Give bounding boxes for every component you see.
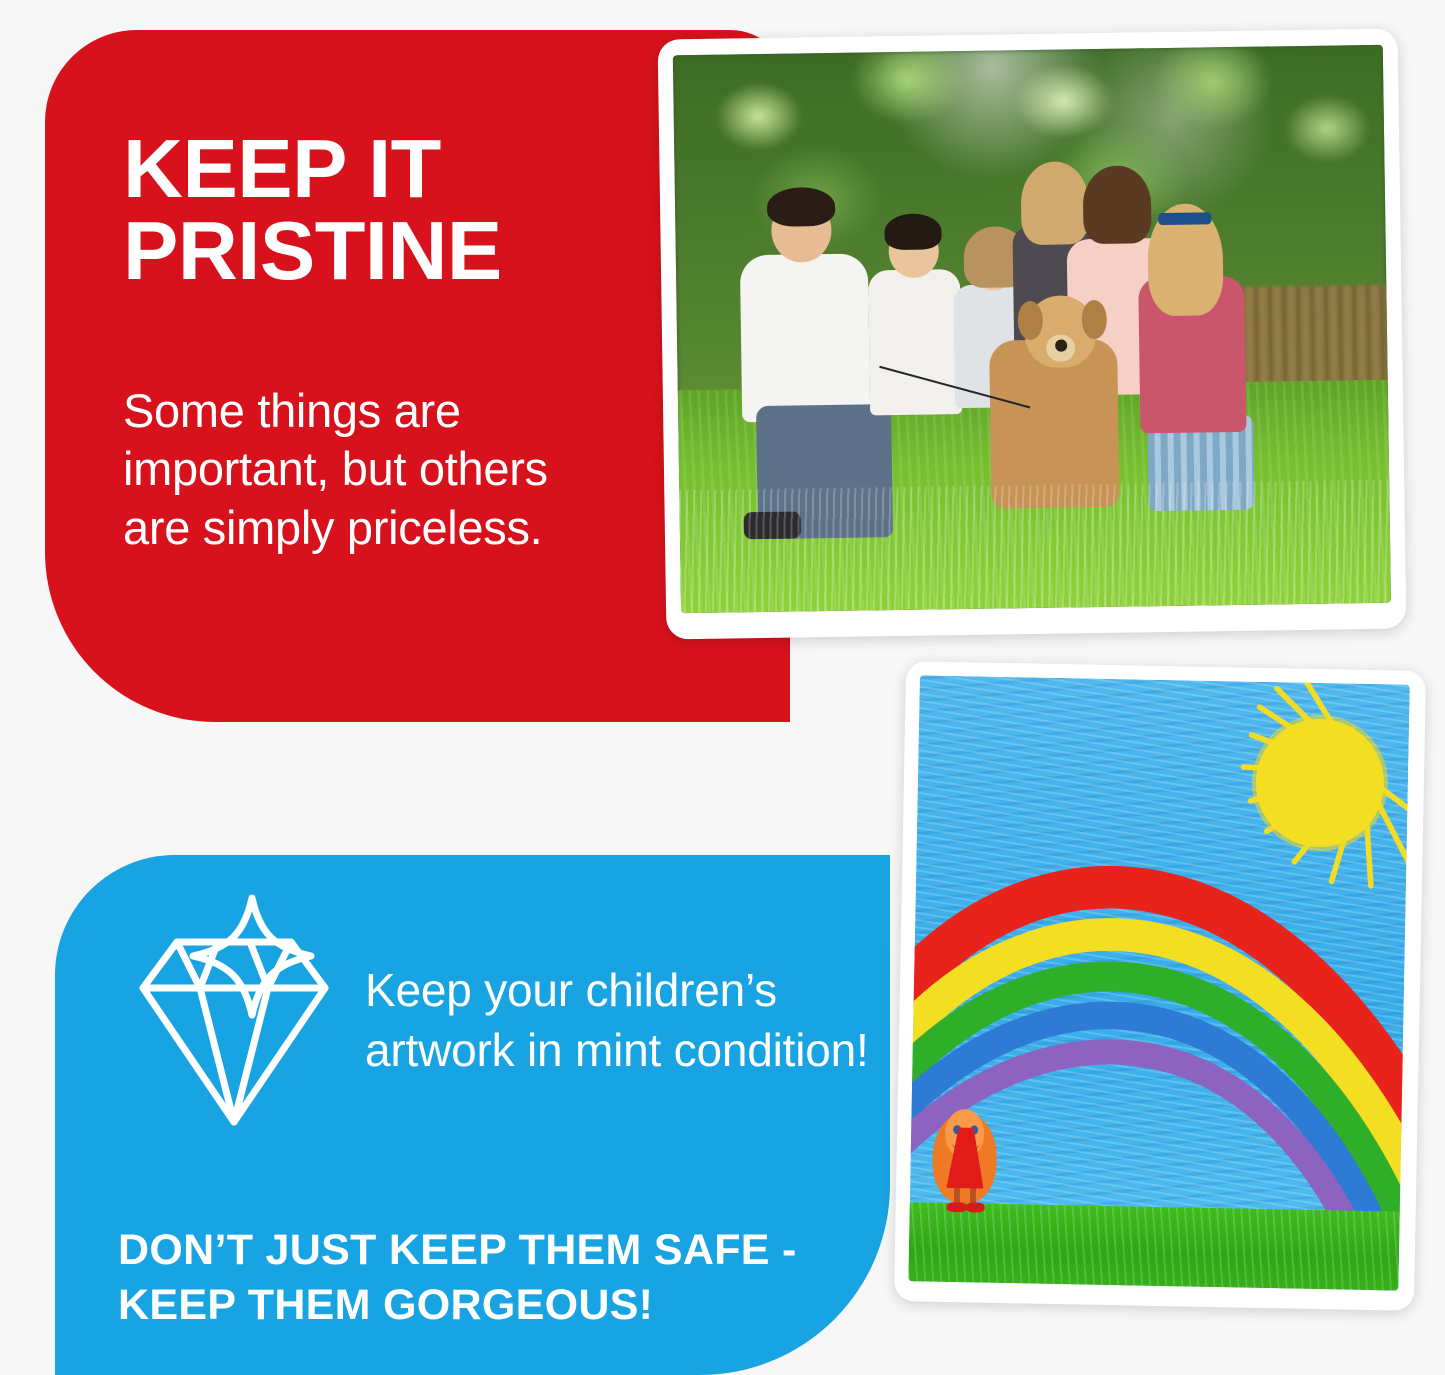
blue-message-panel: Keep your children’s artwork in mint con… bbox=[55, 855, 890, 1375]
foreground-grass-blades bbox=[679, 480, 1391, 613]
boy-shirt bbox=[868, 269, 962, 415]
father-hair bbox=[767, 187, 835, 227]
mother-hair bbox=[1083, 165, 1152, 244]
childrens-crayon-drawing bbox=[908, 675, 1410, 1290]
dog-ear-left bbox=[1017, 301, 1042, 340]
girl-three-headband bbox=[1158, 212, 1211, 225]
dog-ear-right bbox=[1081, 300, 1106, 339]
blue-panel-lead: Keep your children’s artwork in mint con… bbox=[365, 955, 895, 1081]
red-panel-body: Some things are important, but others ar… bbox=[123, 382, 593, 557]
drawn-girl-shoe-left bbox=[947, 1202, 967, 1212]
boy-hair bbox=[885, 213, 942, 250]
drawing-grass bbox=[908, 1202, 1399, 1290]
family-with-dog-photo bbox=[673, 45, 1391, 613]
drawn-girl-shoe-right bbox=[965, 1202, 985, 1212]
blue-panel-kicker: DON’T JUST KEEP THEM SAFE - KEEP THEM GO… bbox=[118, 1223, 908, 1333]
red-panel-heading: KEEP IT PRISTINE bbox=[123, 128, 643, 292]
father-shirt bbox=[740, 253, 870, 422]
infographic-canvas: KEEP IT PRISTINE Some things are importa… bbox=[0, 0, 1445, 1375]
family-with-dog-photo-card bbox=[658, 29, 1407, 640]
diamond-sparkle-icon bbox=[115, 890, 345, 1145]
childrens-artwork-card bbox=[894, 661, 1426, 1311]
girl-two-hair bbox=[1021, 161, 1090, 246]
blue-panel-icon-row: Keep your children’s artwork in mint con… bbox=[115, 890, 895, 1145]
